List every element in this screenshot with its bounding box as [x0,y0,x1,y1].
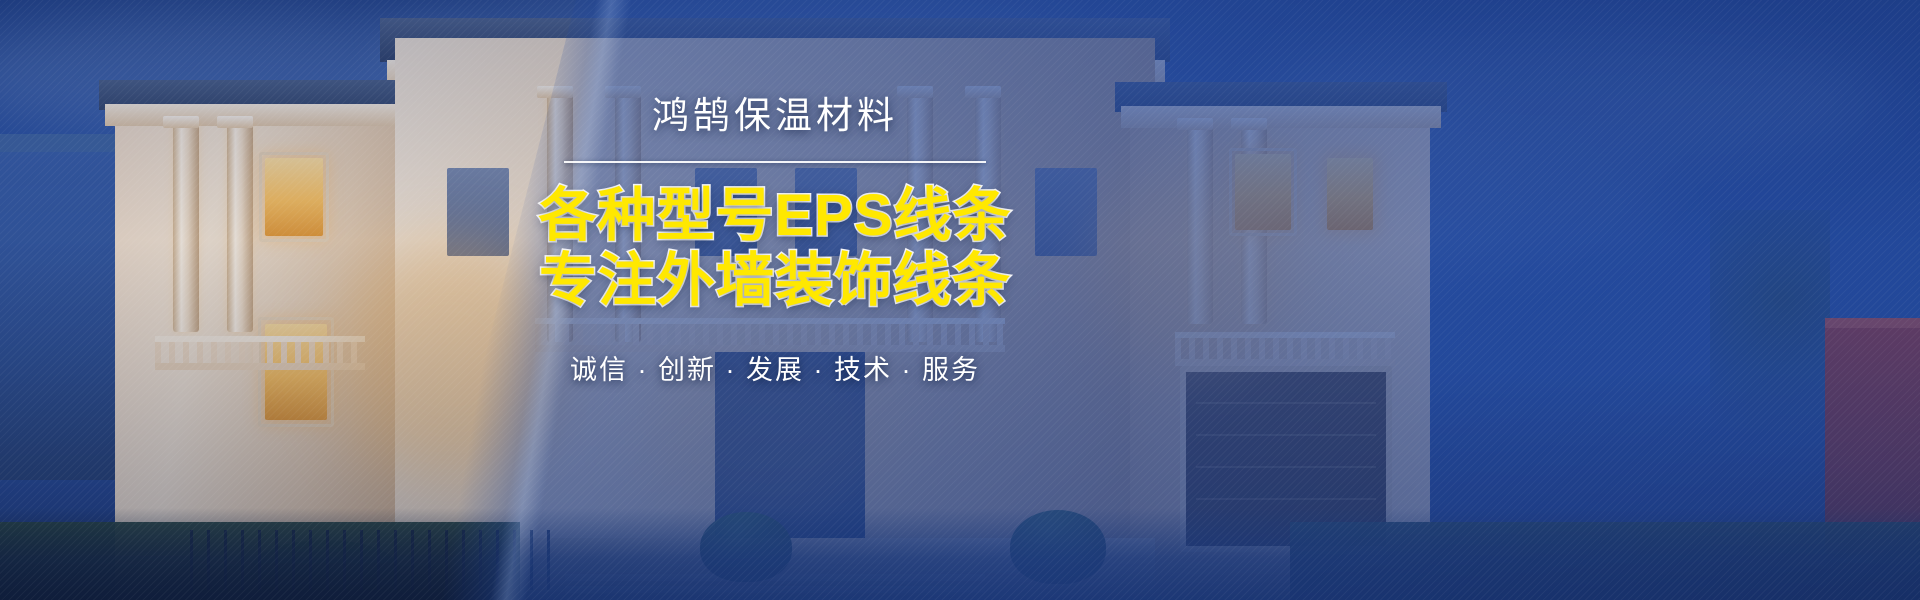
brand-name: 鸿鹄保温材料 [652,96,898,137]
tagline: 诚信 · 创新 · 发展 · 技术 · 服务 [570,348,980,387]
divider-line [564,161,986,163]
headline-line-1: 各种型号EPS线条 [538,185,1011,246]
headline-line-2: 专注外墙装饰线条 [539,250,1011,311]
text-block: 鸿鹄保温材料 各种型号EPS线条 专注外墙装饰线条 诚信 · 创新 · 发展 ·… [525,96,1025,387]
headline-group: 各种型号EPS线条 专注外墙装饰线条 [538,185,1011,312]
banner-content: 鸿鹄保温材料 各种型号EPS线条 专注外墙装饰线条 诚信 · 创新 · 发展 ·… [0,0,1920,600]
promo-banner: 鸿鹄保温材料 各种型号EPS线条 专注外墙装饰线条 诚信 · 创新 · 发展 ·… [0,0,1920,600]
